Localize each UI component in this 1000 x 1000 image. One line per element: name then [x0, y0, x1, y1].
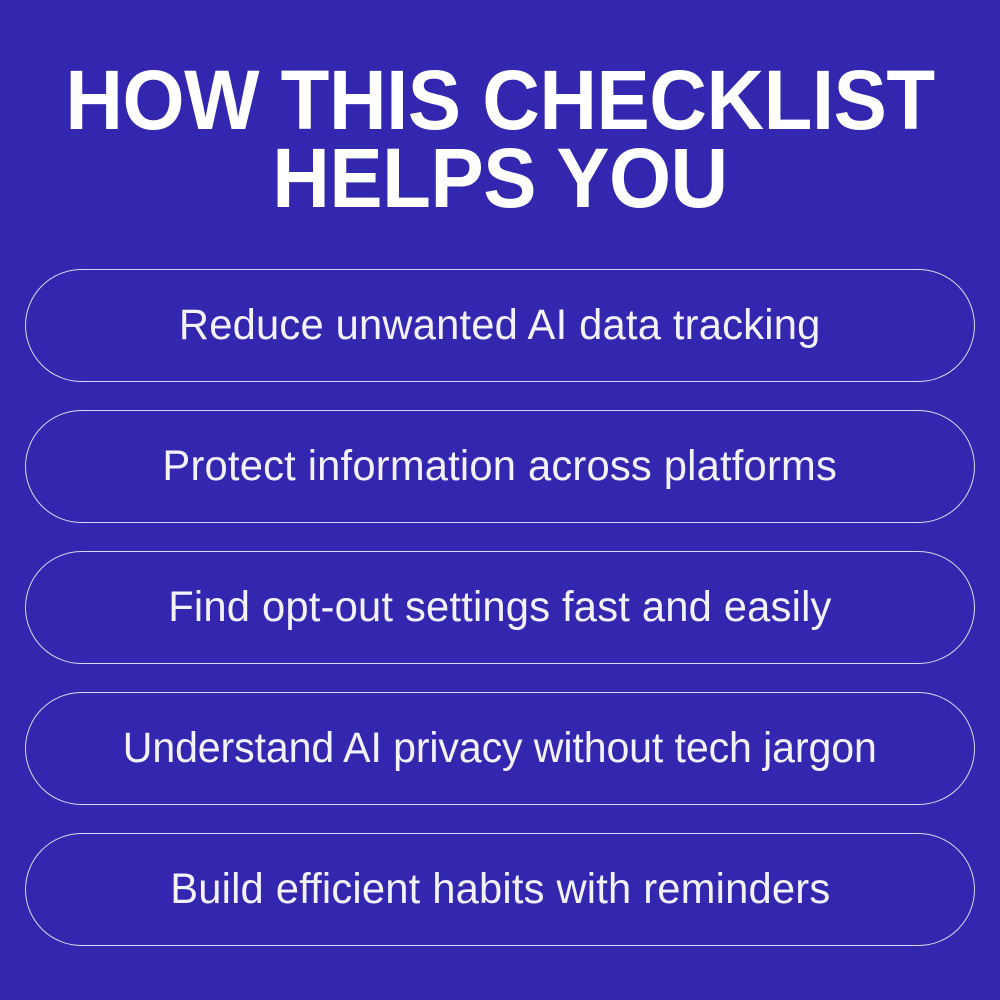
benefit-label-2: Protect information across platforms [163, 445, 838, 488]
benefit-pill-2[interactable]: Protect information across platforms [25, 410, 975, 523]
benefit-pill-5[interactable]: Build efficient habits with reminders [25, 833, 975, 946]
benefit-pill-4[interactable]: Understand AI privacy without tech jargo… [25, 692, 975, 805]
benefit-pill-1[interactable]: Reduce unwanted AI data tracking [25, 269, 975, 382]
benefits-list: Reduce unwanted AI data tracking Protect… [25, 269, 975, 946]
page-title-line-2: HELPS YOU [25, 140, 975, 216]
checklist-benefits-poster: HOW THIS CHECKLIST HELPS YOU Reduce unwa… [0, 0, 1000, 1000]
benefit-pill-3[interactable]: Find opt-out settings fast and easily [25, 551, 975, 664]
benefit-label-3: Find opt-out settings fast and easily [168, 586, 831, 629]
benefit-label-1: Reduce unwanted AI data tracking [179, 304, 821, 347]
page-title-line-1: HOW THIS CHECKLIST [25, 62, 975, 138]
benefit-label-5: Build efficient habits with reminders [170, 868, 830, 911]
page-title: HOW THIS CHECKLIST HELPS YOU [25, 0, 975, 216]
benefit-label-4: Understand AI privacy without tech jargo… [123, 727, 877, 770]
